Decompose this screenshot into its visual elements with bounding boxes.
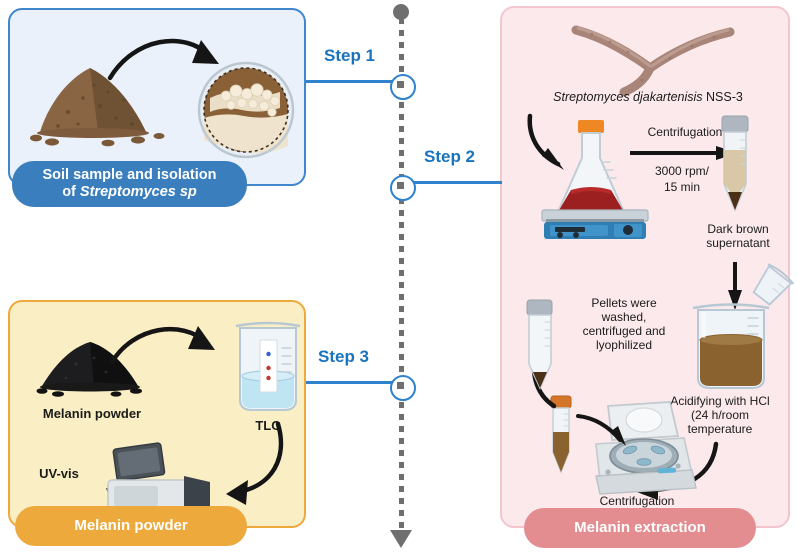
connector-step-2 [404, 181, 502, 184]
label-centrifugation-bottom: Centrifugation [562, 494, 712, 508]
badge-step-1-line2-italic: Streptomyces sp [80, 184, 197, 200]
timeline-end-arrow [390, 530, 412, 548]
arrow-tube-into-centrifuge [576, 412, 630, 448]
label-uv-vis: UV-vis [24, 466, 94, 481]
label-melanin-powder: Melanin powder [22, 406, 162, 421]
petri-dish-illustration [196, 60, 296, 160]
panel-step-3: Melanin powder TLC [8, 300, 306, 528]
organism-name-italic: Streptomyces djakartenisis [553, 90, 702, 104]
badge-step-1: Soil sample and isolation of Streptomyce… [12, 161, 247, 207]
badge-step-2-label: Melanin extraction [574, 519, 706, 536]
step-2-label: Step 2 [424, 147, 475, 167]
organism-strain: NSS-3 [703, 90, 743, 104]
badge-step-3: Melanin powder [15, 506, 247, 546]
connector-step-1 [306, 80, 398, 83]
streptomyces-filament-illustration [558, 16, 738, 96]
label-pellets: Pellets werewashed,centrifuged andlyophi… [558, 296, 690, 353]
timeline-node-step-1[interactable] [390, 74, 416, 100]
badge-step-2: Melanin extraction [524, 508, 756, 548]
panel-step-1 [8, 8, 306, 186]
acidification-beaker-illustration [688, 300, 774, 396]
label-dark-brown-supernatant: Dark brownsupernatant [688, 222, 788, 250]
badge-step-1-line2-prefix: of [62, 184, 80, 200]
badge-step-1-line1: Soil sample and isolation [42, 167, 216, 183]
panel-step-2: Streptomyces djakartenisis NSS-3 [500, 6, 790, 528]
badge-step-3-label: Melanin powder [74, 517, 187, 534]
supernatant-tube-illustration [714, 114, 756, 218]
timeline-node-step-2[interactable] [390, 175, 416, 201]
arrow-powder-to-tlc [108, 320, 228, 372]
tlc-beaker-illustration [232, 320, 304, 416]
workflow-timeline [396, 4, 406, 552]
timeline-node-step-3[interactable] [390, 375, 416, 401]
pellets-tube-illustration [520, 298, 560, 396]
step-3-label: Step 3 [318, 347, 369, 367]
step-1-label: Step 1 [324, 46, 375, 66]
label-organism: Streptomyces djakartenisis NSS-3 [520, 90, 776, 105]
connector-step-3 [306, 381, 398, 384]
